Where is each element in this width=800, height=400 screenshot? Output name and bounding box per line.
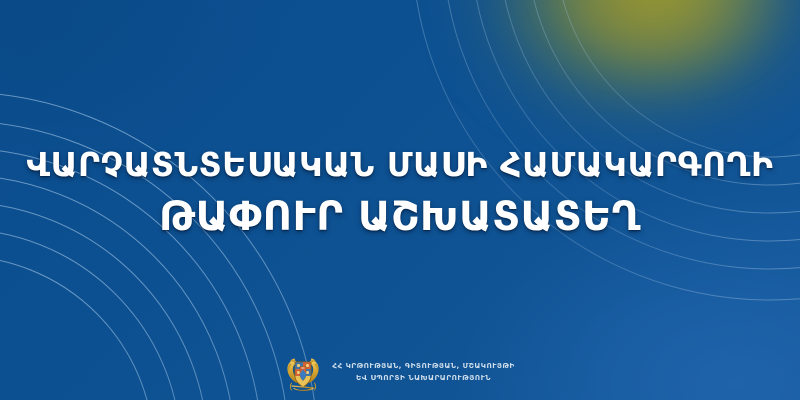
ministry-lockup: ՀՀ ԿՐԹՈՒԹՅԱՆ, ԳԻՏՈՒԹՅԱՆ, ՄՇԱԿՈՒՅԹԻ ԵՎ ՍՊ… [0, 352, 800, 392]
ministry-name-line-1: ՀՀ ԿՐԹՈՒԹՅԱՆ, ԳԻՏՈՒԹՅԱՆ, ՄՇԱԿՈՒՅԹԻ [332, 360, 514, 372]
headline: ՎԱՐՉԱՏՆՏԵՍԱԿԱՆ ՄԱՍԻ ՀԱՄԱԿԱՐԳՈՂԻ ԹԱՓՈՒՐ Ա… [0, 142, 800, 246]
armenia-coat-of-arms-icon [285, 352, 321, 392]
ministry-name-line-2: ԵՎ ՍՊՈՐՏԻ ՆԱԽԱՐԱՐՈՒԹՅՈՒՆ [332, 372, 514, 384]
ministry-name: ՀՀ ԿՐԹՈՒԹՅԱՆ, ԳԻՏՈՒԹՅԱՆ, ՄՇԱԿՈՒՅԹԻ ԵՎ ՍՊ… [332, 360, 514, 384]
headline-line-2: ԹԱՓՈՒՐ ԱՇԽԱՏԱՏԵՂ [26, 189, 774, 246]
headline-line-1: ՎԱՐՉԱՏՆՏԵՍԱԿԱՆ ՄԱՍԻ ՀԱՄԱԿԱՐԳՈՂԻ [26, 142, 774, 189]
announcement-banner: ՎԱՐՉԱՏՆՏԵՍԱԿԱՆ ՄԱՍԻ ՀԱՄԱԿԱՐԳՈՂԻ ԹԱՓՈՒՐ Ա… [0, 0, 800, 400]
